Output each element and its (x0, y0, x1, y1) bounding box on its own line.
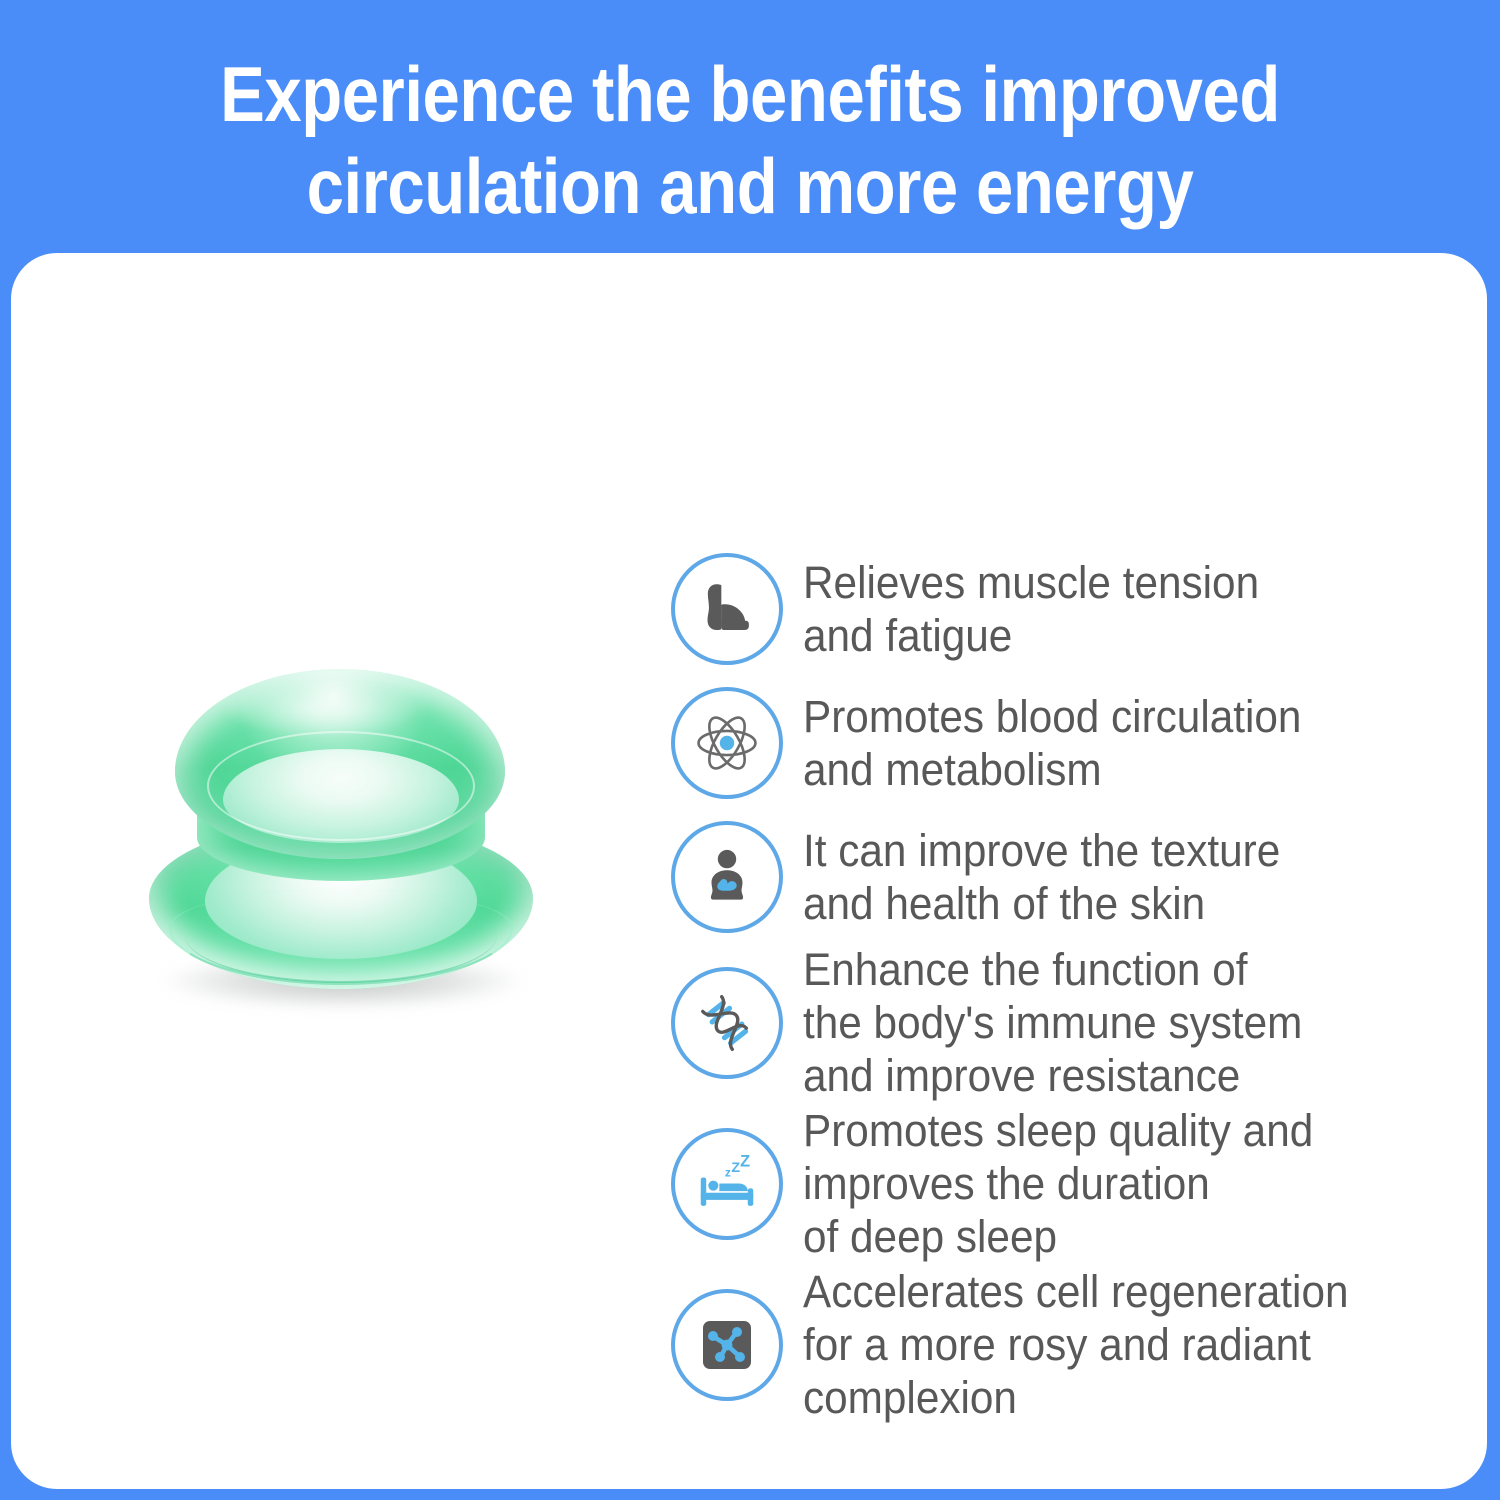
atom-icon (671, 687, 783, 799)
benefit-text: Relieves muscle tension and fatigue (803, 556, 1259, 662)
benefit-item-cell-regeneration: Accelerates cell regeneration for a more… (671, 1265, 1487, 1424)
benefit-text: Accelerates cell regeneration for a more… (803, 1265, 1349, 1424)
benefits-list: Relieves muscle tension and fatigue Prom… (671, 553, 1487, 1424)
person-torso-icon (671, 821, 783, 933)
flexed-bicep-icon (671, 553, 783, 665)
svg-text:z: z (725, 1165, 731, 1179)
bed-sleep-icon: z Z Z (671, 1128, 783, 1240)
cup-highlight (227, 683, 417, 735)
svg-text:Z: Z (731, 1159, 740, 1175)
product-image (131, 653, 551, 1073)
dna-helix-icon (671, 967, 783, 1079)
title-line-1: Experience the benefits improved (105, 48, 1395, 140)
content-card: Relieves muscle tension and fatigue Prom… (11, 253, 1487, 1489)
molecule-network-icon (671, 1289, 783, 1401)
title-line-2: circulation and more energy (105, 140, 1395, 232)
benefit-item-skin-texture: It can improve the texture and health of… (671, 821, 1487, 933)
benefit-text: Enhance the function of the body's immun… (803, 943, 1302, 1102)
benefit-text: Promotes blood circulation and metabolis… (803, 690, 1301, 796)
benefit-text: Promotes sleep quality and improves the … (803, 1104, 1313, 1263)
svg-text:Z: Z (740, 1152, 750, 1170)
benefit-item-muscle-tension: Relieves muscle tension and fatigue (671, 553, 1487, 665)
benefit-item-blood-circulation: Promotes blood circulation and metabolis… (671, 687, 1487, 799)
benefit-item-immune-system: Enhance the function of the body's immun… (671, 943, 1487, 1102)
page-title: Experience the benefits improved circula… (0, 48, 1500, 232)
benefit-item-sleep-quality: z Z Z Promotes sleep quality and improve… (671, 1104, 1487, 1263)
product-benefits-poster: Experience the benefits improved circula… (0, 0, 1500, 1500)
benefit-text: It can improve the texture and health of… (803, 824, 1280, 930)
cup-upper-rim (207, 731, 475, 841)
